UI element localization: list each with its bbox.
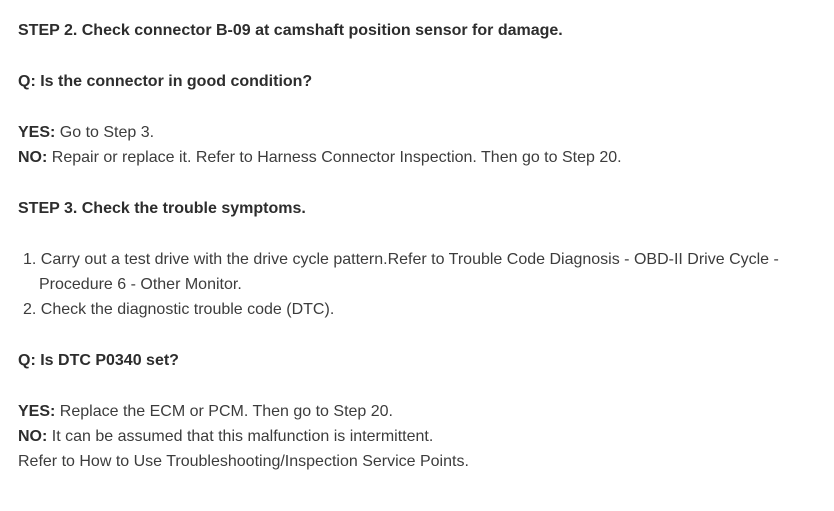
yes-label: YES: — [18, 403, 55, 420]
step-3-question: Q: Is DTC P0340 set? — [18, 348, 816, 373]
list-item: 2. Check the diagnostic trouble code (DT… — [18, 297, 814, 322]
step-2-question: Q: Is the connector in good condition? — [18, 69, 816, 94]
list-item: 1. Carry out a test drive with the drive… — [18, 247, 814, 297]
yes-instruction: Replace the ECM or PCM. Then go to Step … — [55, 403, 393, 420]
yes-label: YES: — [18, 124, 55, 141]
no-label: NO: — [18, 149, 47, 166]
step-3-task-list: 1. Carry out a test drive with the drive… — [18, 247, 816, 322]
step-2-answer-no: NO: Repair or replace it. Refer to Harne… — [18, 145, 816, 170]
no-instruction: Repair or replace it. Refer to Harness C… — [47, 149, 621, 166]
step-3-answer-no: NO: It can be assumed that this malfunct… — [18, 424, 816, 449]
step-2-answer-yes: YES: Go to Step 3. — [18, 120, 816, 145]
step-3-answer-no-reference: Refer to How to Use Troubleshooting/Insp… — [18, 449, 816, 474]
spacer — [18, 94, 816, 120]
troubleshooting-document: STEP 2. Check connector B-09 at camshaft… — [0, 0, 834, 474]
step-2-section: STEP 2. Check connector B-09 at camshaft… — [18, 18, 816, 170]
spacer — [18, 322, 816, 348]
spacer — [18, 221, 816, 247]
spacer — [18, 170, 816, 196]
step-2-heading: STEP 2. Check connector B-09 at camshaft… — [18, 18, 816, 43]
step-3-answer-yes: YES: Replace the ECM or PCM. Then go to … — [18, 399, 816, 424]
no-label: NO: — [18, 428, 47, 445]
spacer — [18, 43, 816, 69]
no-instruction: It can be assumed that this malfunction … — [47, 428, 433, 445]
yes-instruction: Go to Step 3. — [55, 124, 154, 141]
step-3-heading: STEP 3. Check the trouble symptoms. — [18, 196, 816, 221]
spacer — [18, 373, 816, 399]
step-3-section: STEP 3. Check the trouble symptoms. 1. C… — [18, 196, 816, 474]
